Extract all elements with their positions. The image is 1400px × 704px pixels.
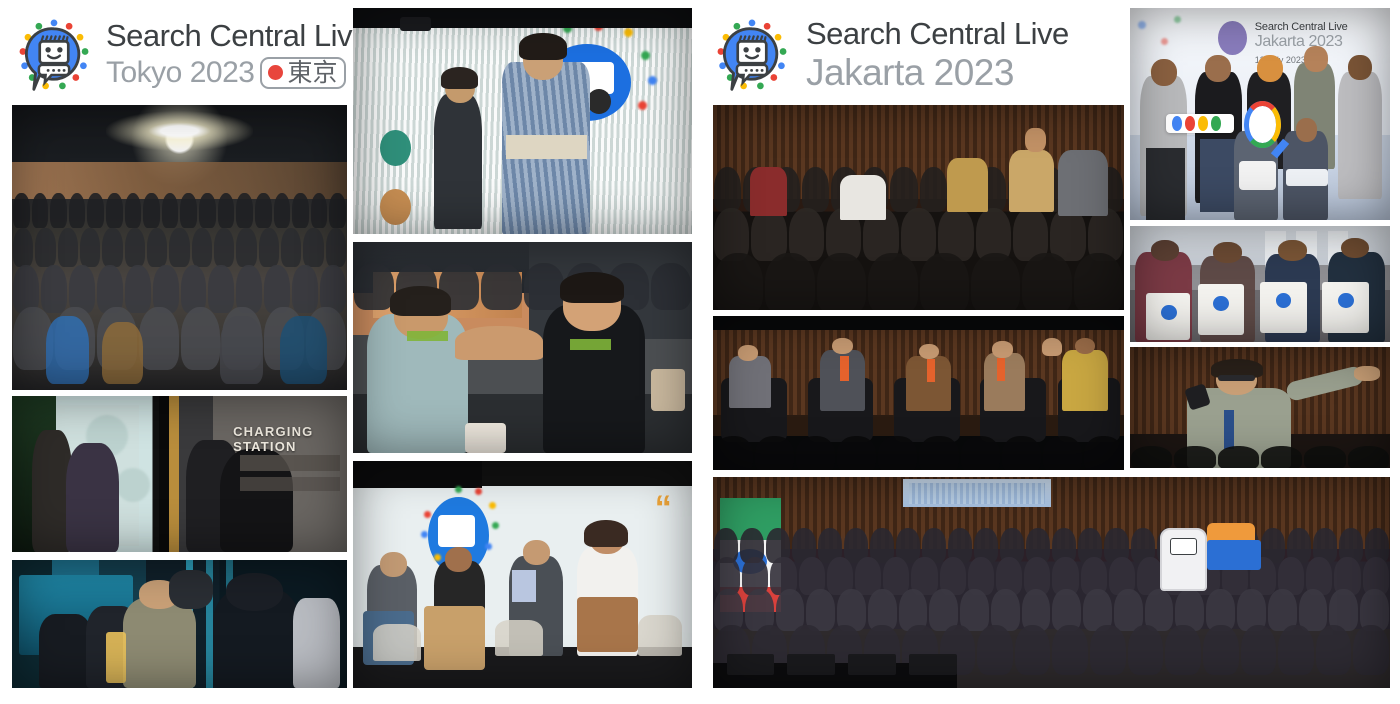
tokyo-badge-label: 東京 xyxy=(287,60,337,85)
jakarta-question-mic xyxy=(1130,347,1390,468)
tokyo-logo-lockup: Search Central Live Tokyo 2023 東京 xyxy=(12,12,369,96)
jakarta-panel xyxy=(713,316,1124,470)
jakarta-audience xyxy=(713,105,1124,310)
tokyo-title-line1: Search Central Live xyxy=(106,20,369,51)
tokyo-panel-discussion: “ xyxy=(353,461,692,688)
tokyo-title-line2: Tokyo 2023 xyxy=(106,58,254,88)
jakarta-logo-lockup: Search Central Live Jakarta 2023 xyxy=(710,12,1069,96)
tokyo-heart-hands xyxy=(353,242,692,453)
jakarta-title-line2: Jakarta 2023 xyxy=(806,54,1069,91)
tokyo-japan-badge: 東京 xyxy=(260,57,346,89)
search-central-live-robot-mascot-icon xyxy=(12,12,96,96)
japan-flag-dot-icon xyxy=(268,65,283,80)
jakarta-title-line1: Search Central Live xyxy=(806,18,1069,49)
tokyo-group-photo xyxy=(12,105,347,390)
jakarta-swag-bags xyxy=(1130,226,1390,342)
collage-page: Search Central Live Tokyo 2023 東京 xyxy=(0,0,1400,704)
search-central-live-robot-mascot-icon xyxy=(710,12,794,96)
tokyo-networking-drinks xyxy=(12,560,347,688)
tokyo-yukata-stage xyxy=(353,8,692,234)
jakarta-backdrop-group: Search Central Live Jakarta 2023 12 July… xyxy=(1130,8,1390,220)
tokyo-charging-station: CHARGING STATION xyxy=(12,396,347,552)
jakarta-big-group-photo xyxy=(713,477,1390,688)
